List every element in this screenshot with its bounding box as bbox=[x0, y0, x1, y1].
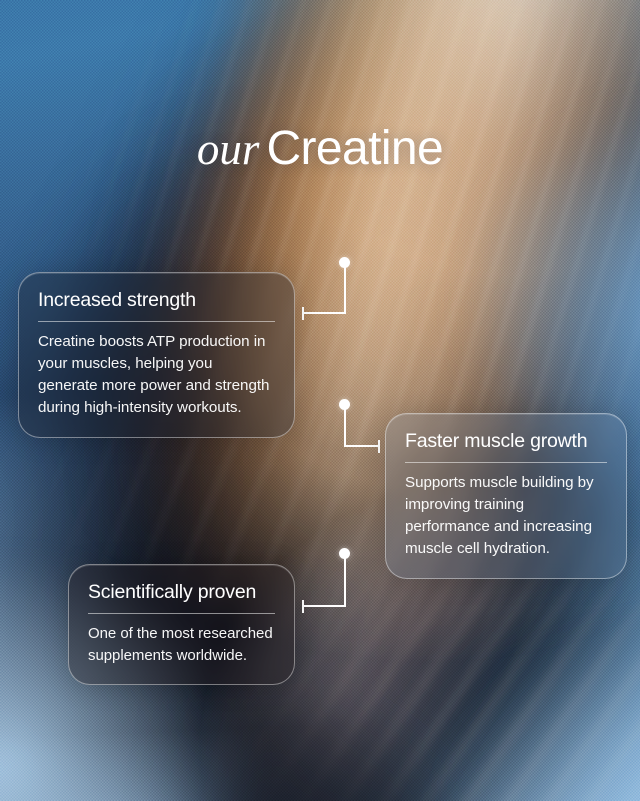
connector-growth-endcap bbox=[378, 440, 380, 453]
feature-card-divider bbox=[88, 613, 275, 614]
page-title-main: Creatine bbox=[266, 122, 443, 175]
feature-card-body: Supports muscle building by improving tr… bbox=[405, 472, 607, 560]
feature-card-title: Scientifically proven bbox=[88, 581, 275, 604]
creatine-feature-panel: ourCreatine Increased strength Creatine … bbox=[0, 0, 640, 801]
connector-growth-horizontal bbox=[344, 445, 380, 447]
connector-proven-endcap bbox=[302, 600, 304, 613]
connector-proven-vertical bbox=[344, 557, 346, 607]
feature-card-title: Increased strength bbox=[38, 289, 275, 312]
connector-strength-horizontal bbox=[302, 312, 346, 314]
page-title: ourCreatine bbox=[0, 125, 640, 173]
feature-card-body: One of the most researched supplements w… bbox=[88, 623, 275, 666]
connector-growth-vertical bbox=[344, 408, 346, 447]
feature-card-divider bbox=[405, 462, 607, 463]
connector-strength-endcap bbox=[302, 307, 304, 320]
connector-strength-dot bbox=[339, 257, 350, 268]
feature-card-body: Creatine boosts ATP production in your m… bbox=[38, 331, 275, 419]
connector-proven-horizontal bbox=[302, 605, 346, 607]
connector-strength-vertical bbox=[344, 266, 346, 314]
feature-card-title: Faster muscle growth bbox=[405, 430, 607, 453]
connector-proven-dot bbox=[339, 548, 350, 559]
feature-card-increased-strength[interactable]: Increased strength Creatine boosts ATP p… bbox=[18, 272, 295, 438]
page-title-italic: our bbox=[197, 124, 260, 174]
feature-card-divider bbox=[38, 321, 275, 322]
feature-card-faster-muscle-growth[interactable]: Faster muscle growth Supports muscle bui… bbox=[385, 413, 627, 579]
connector-growth-dot bbox=[339, 399, 350, 410]
feature-card-scientifically-proven[interactable]: Scientifically proven One of the most re… bbox=[68, 564, 295, 685]
